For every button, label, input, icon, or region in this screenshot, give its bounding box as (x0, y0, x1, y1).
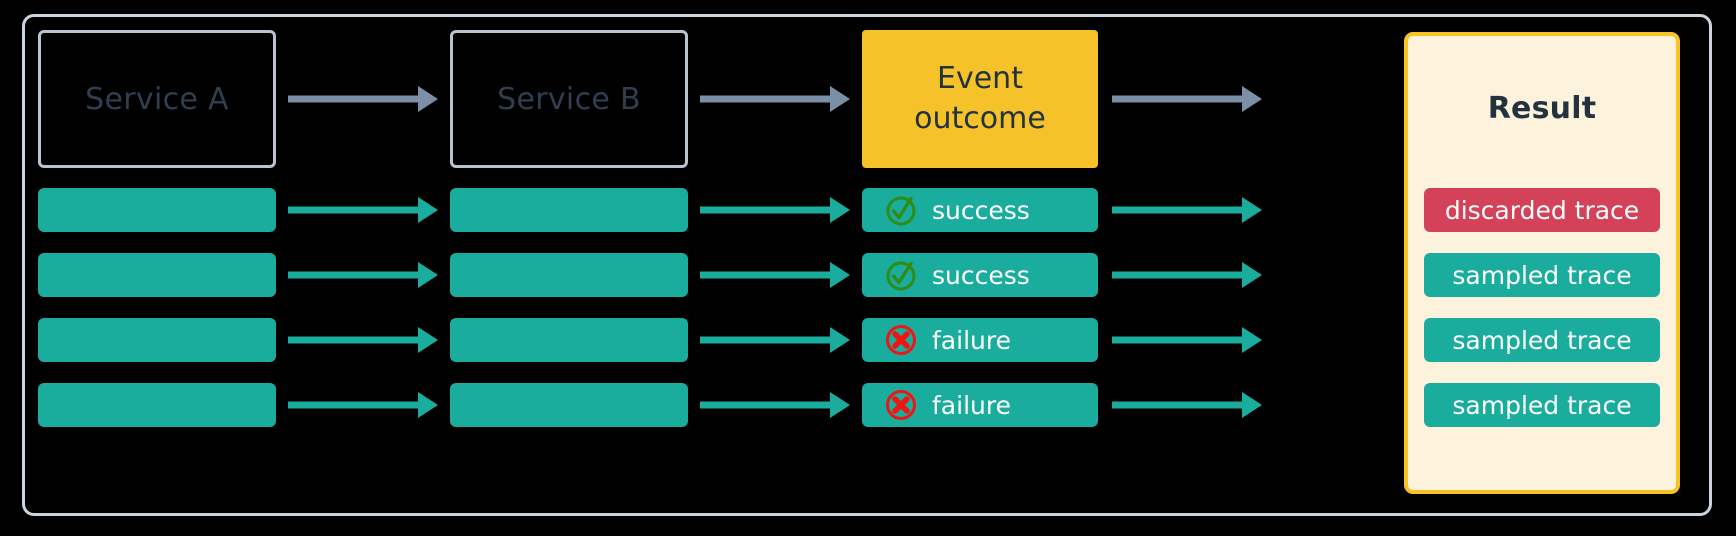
arrow-head (418, 86, 438, 112)
arrow-shaft (288, 337, 418, 344)
column-header-service-a: Service A (38, 30, 276, 168)
arrow-shaft (700, 337, 830, 344)
column-header-event-outcome-line2: outcome (914, 99, 1046, 140)
check-circle-icon (884, 193, 918, 227)
result-badge-row-3: sampled trace (1424, 318, 1660, 362)
result-badge-row-1: discarded trace (1424, 188, 1660, 232)
arrow-head (1242, 327, 1262, 353)
outcome-badge-row-2: success (862, 253, 1098, 297)
arrow-shaft (700, 207, 830, 214)
arrow-shaft (1112, 272, 1242, 279)
column-header-service-b: Service B (450, 30, 688, 168)
arrow-shaft (288, 96, 418, 103)
arrow-shaft (1112, 402, 1242, 409)
table-row (450, 253, 688, 297)
table-row (38, 383, 276, 427)
result-badge-row-4: sampled trace (1424, 383, 1660, 427)
arrow-head (418, 262, 438, 288)
outcome-label: success (932, 261, 1030, 290)
arrow-shaft (1112, 96, 1242, 103)
table-row (450, 188, 688, 232)
outcome-badge-row-3: failure (862, 318, 1098, 362)
outcome-label: failure (932, 391, 1011, 420)
result-label: sampled trace (1452, 391, 1631, 420)
x-circle-icon (884, 323, 918, 357)
arrow-shaft (1112, 337, 1242, 344)
column-header-event-outcome: Event outcome (862, 30, 1098, 168)
arrow-shaft (288, 272, 418, 279)
arrow-shaft (288, 402, 418, 409)
column-header-event-outcome-line1: Event (937, 59, 1023, 100)
result-label: discarded trace (1445, 196, 1639, 225)
outcome-label: success (932, 196, 1030, 225)
outcome-badge-row-1: success (862, 188, 1098, 232)
outcome-label: failure (932, 326, 1011, 355)
arrow-head (830, 197, 850, 223)
arrow-head (418, 197, 438, 223)
arrow-shaft (700, 272, 830, 279)
table-row (450, 318, 688, 362)
arrow-head (830, 327, 850, 353)
result-label: sampled trace (1452, 261, 1631, 290)
result-badge-row-2: sampled trace (1424, 253, 1660, 297)
arrow-head (1242, 197, 1262, 223)
arrow-head (418, 327, 438, 353)
column-header-service-a-label: Service A (85, 82, 229, 117)
column-header-service-b-label: Service B (497, 82, 641, 117)
result-panel-title: Result (1408, 36, 1676, 180)
arrow-shaft (700, 96, 830, 103)
arrow-head (418, 392, 438, 418)
arrow-head (1242, 262, 1262, 288)
arrow-shaft (288, 207, 418, 214)
arrow-head (830, 262, 850, 288)
result-label: sampled trace (1452, 326, 1631, 355)
diagram-canvas: Service A Service B Event outcome Result (0, 0, 1736, 536)
outcome-badge-row-4: failure (862, 383, 1098, 427)
x-circle-icon (884, 388, 918, 422)
arrow-shaft (1112, 207, 1242, 214)
arrow-head (830, 86, 850, 112)
arrow-head (1242, 392, 1262, 418)
table-row (38, 188, 276, 232)
table-row (450, 383, 688, 427)
table-row (38, 253, 276, 297)
arrow-head (830, 392, 850, 418)
arrow-head (1242, 86, 1262, 112)
arrow-shaft (700, 402, 830, 409)
check-circle-icon (884, 258, 918, 292)
table-row (38, 318, 276, 362)
